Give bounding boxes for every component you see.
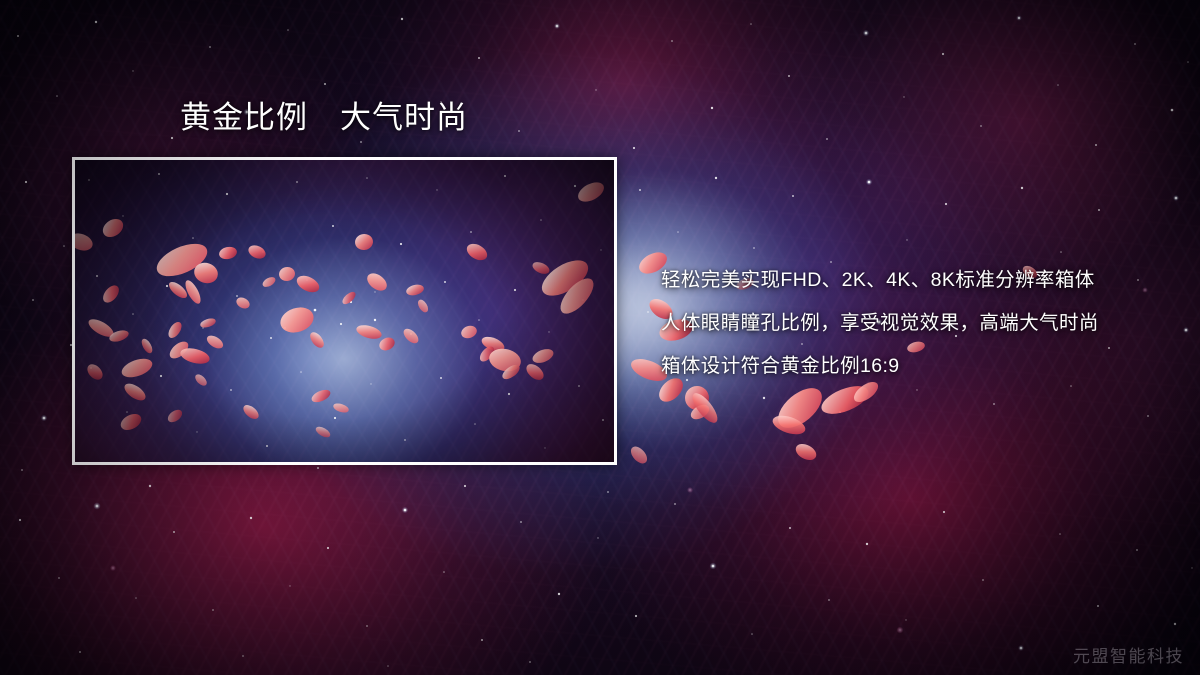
feature-description: 轻松完美实现FHD、2K、4K、8K标准分辨率箱体 人体眼睛瞳孔比例，享受视觉效…	[661, 259, 1161, 388]
photo-vignette	[75, 160, 614, 462]
presentation-slide: 黄金比例 大气时尚 轻松完美实现FHD、2K、4K、8K标准分辨率箱体 人体眼睛…	[0, 0, 1200, 675]
description-line-2: 人体眼睛瞳孔比例，享受视觉效果，高端大气时尚	[661, 302, 1161, 345]
photo-content	[75, 160, 614, 462]
framed-photo	[72, 157, 617, 465]
page-title: 黄金比例 大气时尚	[180, 101, 468, 135]
watermark: 元盟智能科技	[1073, 642, 1184, 667]
description-line-3: 箱体设计符合黄金比例16:9	[661, 345, 1161, 388]
description-line-1: 轻松完美实现FHD、2K、4K、8K标准分辨率箱体	[661, 259, 1161, 302]
